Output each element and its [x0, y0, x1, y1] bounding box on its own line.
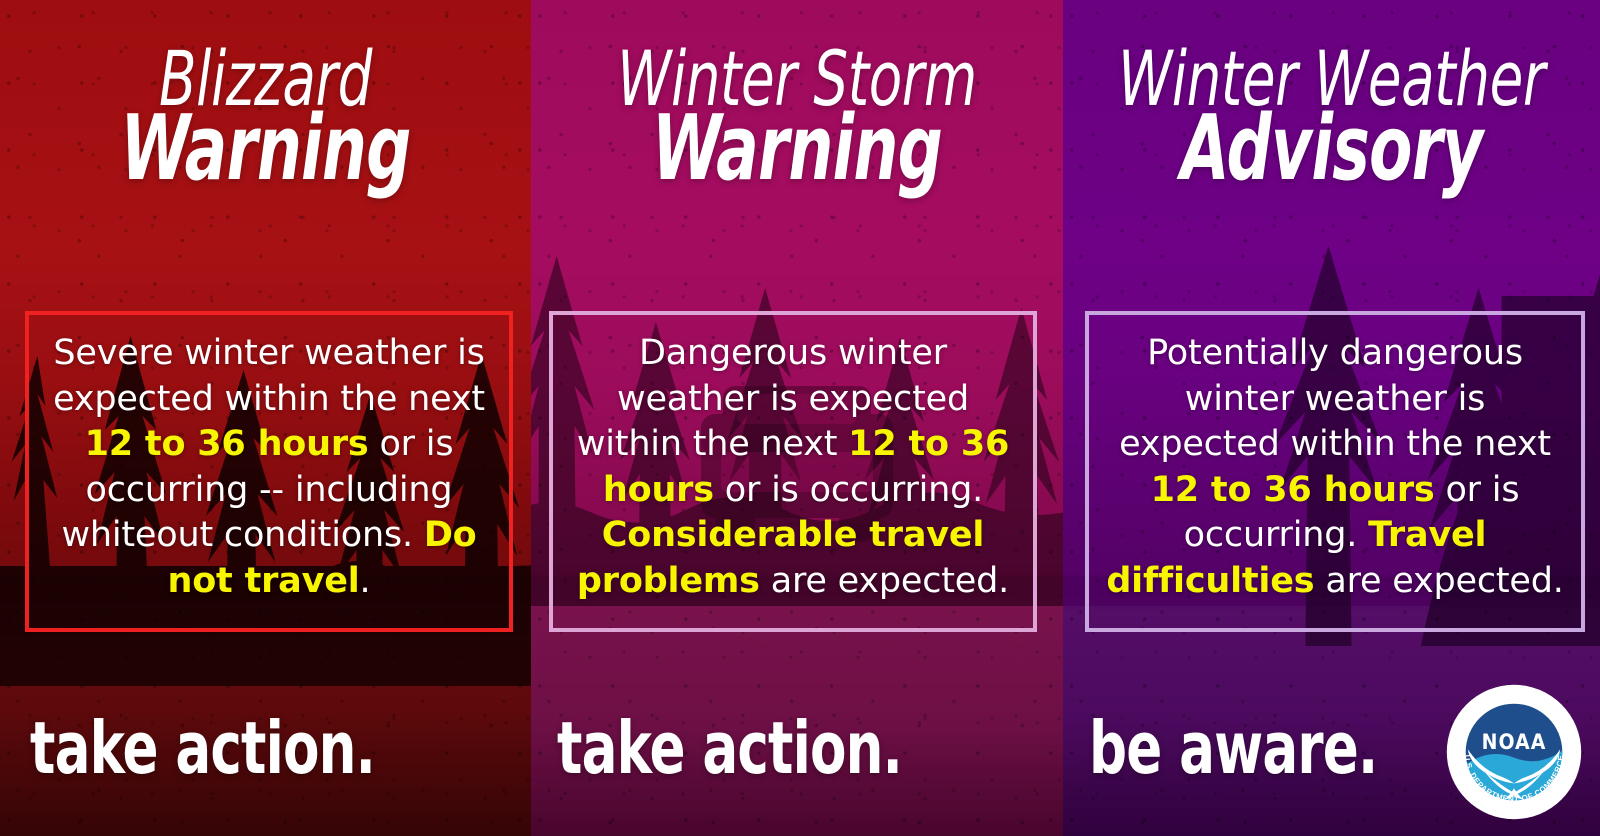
desc-seg-highlight-1: 12 to 36 hours [85, 424, 369, 464]
desc-seg-normal-1: Severe winter weather is expected within… [53, 333, 485, 419]
desc-seg-normal-3: are expected. [1314, 561, 1563, 601]
alert-title-line2: Warning [58, 108, 472, 191]
desc-seg-highlight-1: 12 to 36 hours [1151, 470, 1435, 510]
noaa-logo: NOAA NATIONAL OCEANIC AND ATMOSPHERIC AD… [1444, 682, 1584, 822]
winter-weather-alert-graphic: Blizzard Warning Severe winter weather i… [0, 0, 1600, 836]
alert-title-winter-weather-advisory: Winter Weather Advisory [1063, 0, 1600, 191]
alert-title-line2: Warning [590, 108, 1005, 191]
alert-tagline: be aware. [1089, 712, 1377, 784]
panel-winter-weather-advisory: Winter Weather Advisory Potentially dang… [1063, 0, 1600, 836]
alert-title-winter-storm-warning: Winter Storm Warning [531, 0, 1063, 191]
alert-title-blizzard-warning: Blizzard Warning [0, 0, 531, 191]
panel-blizzard-warning: Blizzard Warning Severe winter weather i… [0, 0, 531, 836]
panel-winter-storm-warning: Winter Storm Warning Dangerous winter we… [531, 0, 1063, 836]
alert-description-text: Dangerous winter weather is expected wit… [569, 331, 1017, 604]
desc-seg-normal-3: are expected. [760, 561, 1009, 601]
alert-title-line2: Advisory [1122, 108, 1541, 191]
alert-description-text: Potentially dangerous winter weather is … [1105, 331, 1565, 604]
alert-tagline: take action. [30, 712, 375, 784]
desc-seg-normal-2: or is occurring. [714, 470, 983, 510]
alert-description-box: Dangerous winter weather is expected wit… [549, 311, 1037, 632]
desc-seg-normal-3: . [360, 561, 371, 601]
alert-tagline: take action. [557, 712, 902, 784]
desc-seg-normal-1: Potentially dangerous winter weather is … [1119, 333, 1551, 464]
alert-description-box: Severe winter weather is expected within… [25, 311, 513, 632]
alert-description-text: Severe winter weather is expected within… [45, 331, 493, 604]
noaa-acronym: NOAA [1482, 730, 1547, 754]
alert-description-box: Potentially dangerous winter weather is … [1085, 311, 1585, 632]
